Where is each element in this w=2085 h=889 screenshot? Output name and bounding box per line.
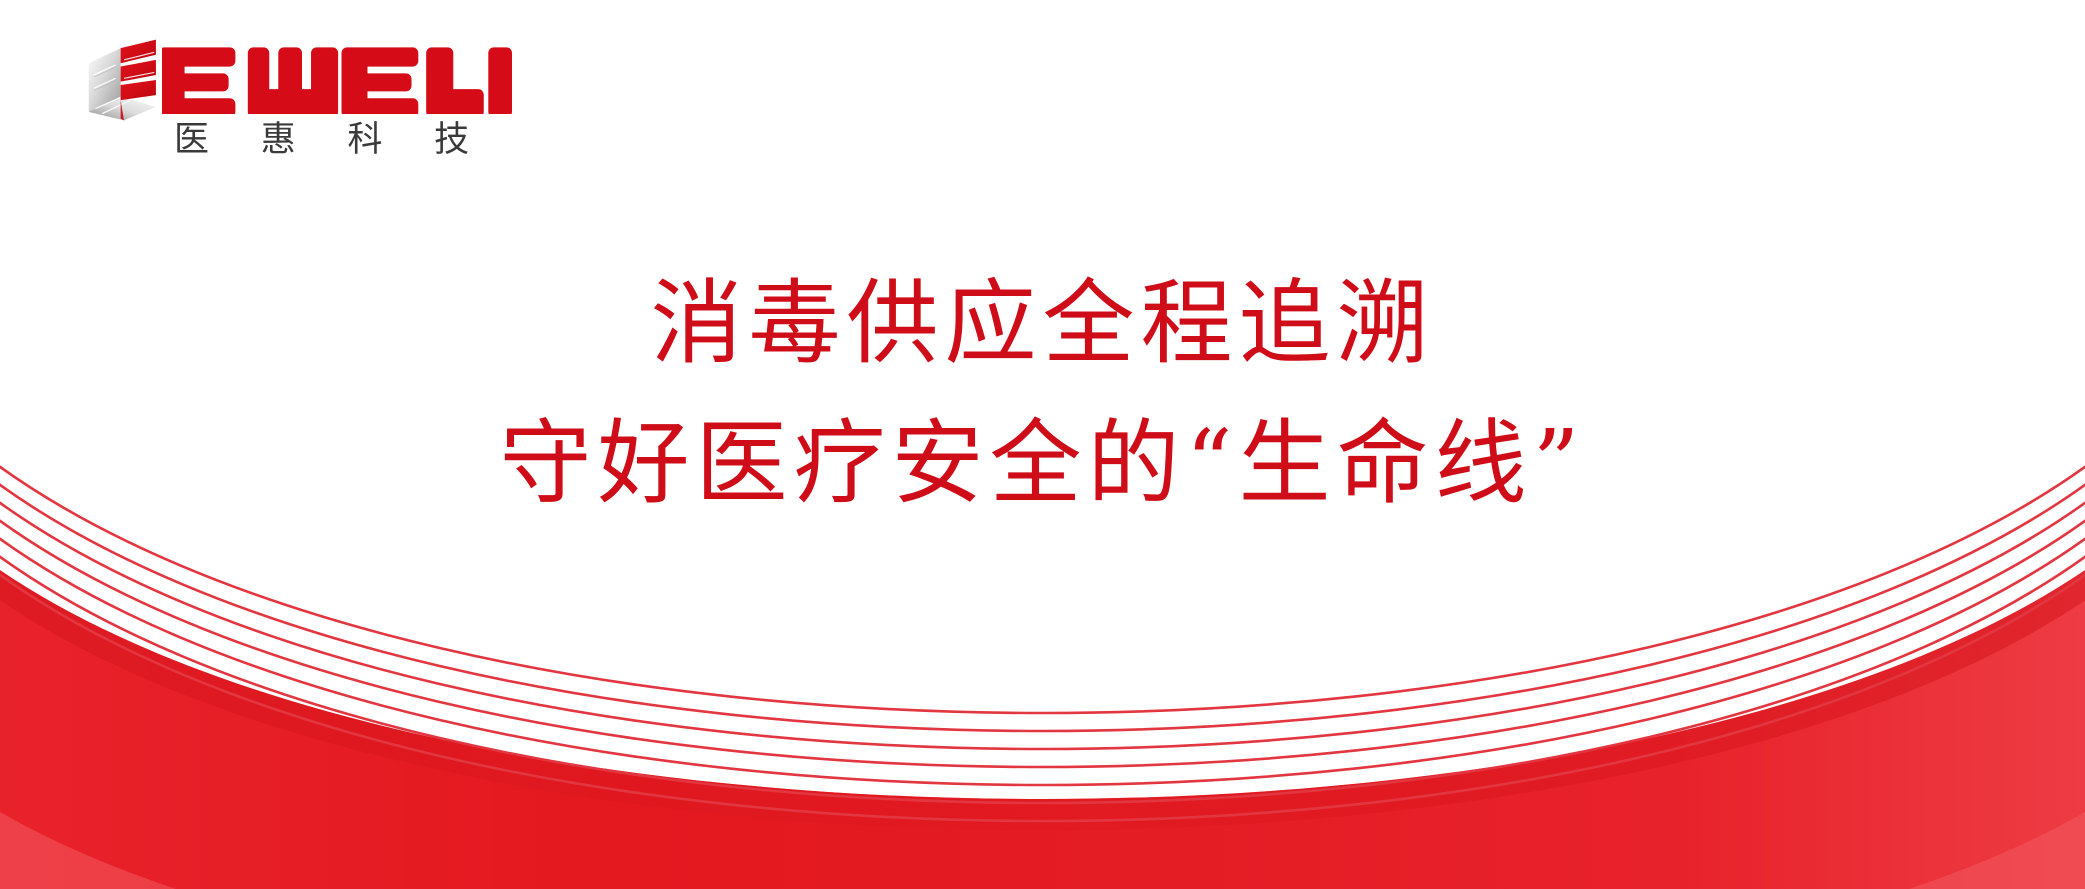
wave-band-lower	[0, 640, 2085, 889]
brand-subtitle: 医 惠 科 技	[174, 122, 490, 157]
page-title: 消毒供应全程追溯 守好医疗安全的“生命线”	[0, 268, 2085, 520]
banner-root: 医 惠 科 技 消毒供应全程追溯 守好医疗安全的“生命线”	[0, 0, 2085, 889]
wave-band-highlight	[0, 556, 2085, 831]
ewell-cube-logo-icon	[82, 38, 166, 122]
brand-logo: 医 惠 科 技	[82, 42, 482, 157]
headline-line-2: 守好医疗安全的“生命线”	[0, 408, 2085, 520]
logo-row	[82, 42, 512, 116]
ewell-wordmark	[162, 44, 512, 114]
headline-line-1: 消毒供应全程追溯	[0, 268, 2085, 380]
wave-band-main	[0, 556, 2085, 889]
